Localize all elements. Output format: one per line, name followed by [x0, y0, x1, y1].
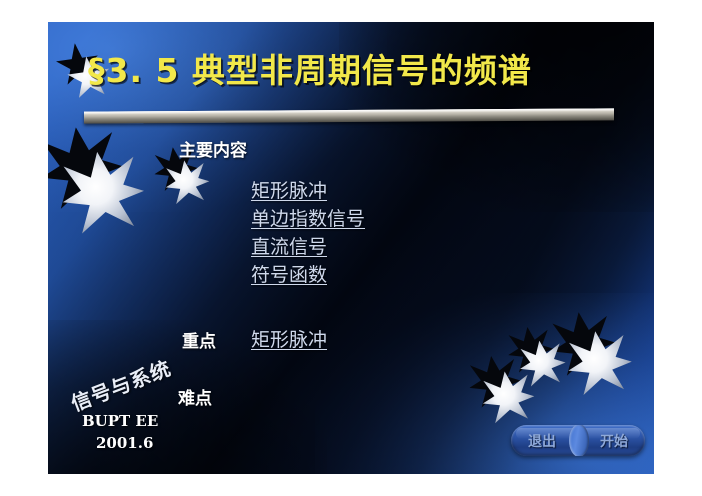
main-content-heading: 主要内容	[179, 136, 247, 161]
topic-link-rectangular-pulse[interactable]: 矩形脉冲	[251, 176, 327, 203]
star-icon	[560, 322, 624, 386]
difficult-point-label: 难点	[178, 384, 212, 409]
footer-date: 2001.6	[96, 434, 153, 452]
key-point-label: 重点	[182, 327, 216, 352]
star-icon	[52, 140, 134, 222]
exit-button[interactable]: 退出	[528, 431, 556, 451]
topic-link-dc-signal[interactable]: 直流信号	[251, 232, 327, 259]
screenshot-canvas: §3. 5 典型非周期信号的频谱 主要内容 矩形脉冲 单边指数信号 直流信号 符…	[0, 0, 702, 496]
topic-link-sign-function[interactable]: 符号函数	[251, 260, 327, 287]
footer-organization: BUPT EE	[82, 412, 158, 430]
star-icon	[476, 364, 528, 416]
toggle-knob[interactable]	[569, 425, 589, 456]
presentation-slide: §3. 5 典型非周期信号的频谱 主要内容 矩形脉冲 单边指数信号 直流信号 符…	[48, 22, 654, 474]
key-point-link[interactable]: 矩形脉冲	[251, 325, 327, 352]
start-button[interactable]: 开始	[600, 431, 628, 451]
navigation-toggle[interactable]: 退出 开始	[511, 425, 645, 456]
topic-link-unilateral-exponential[interactable]: 单边指数信号	[251, 204, 365, 231]
slide-title: §3. 5 典型非周期信号的频谱	[88, 44, 628, 92]
